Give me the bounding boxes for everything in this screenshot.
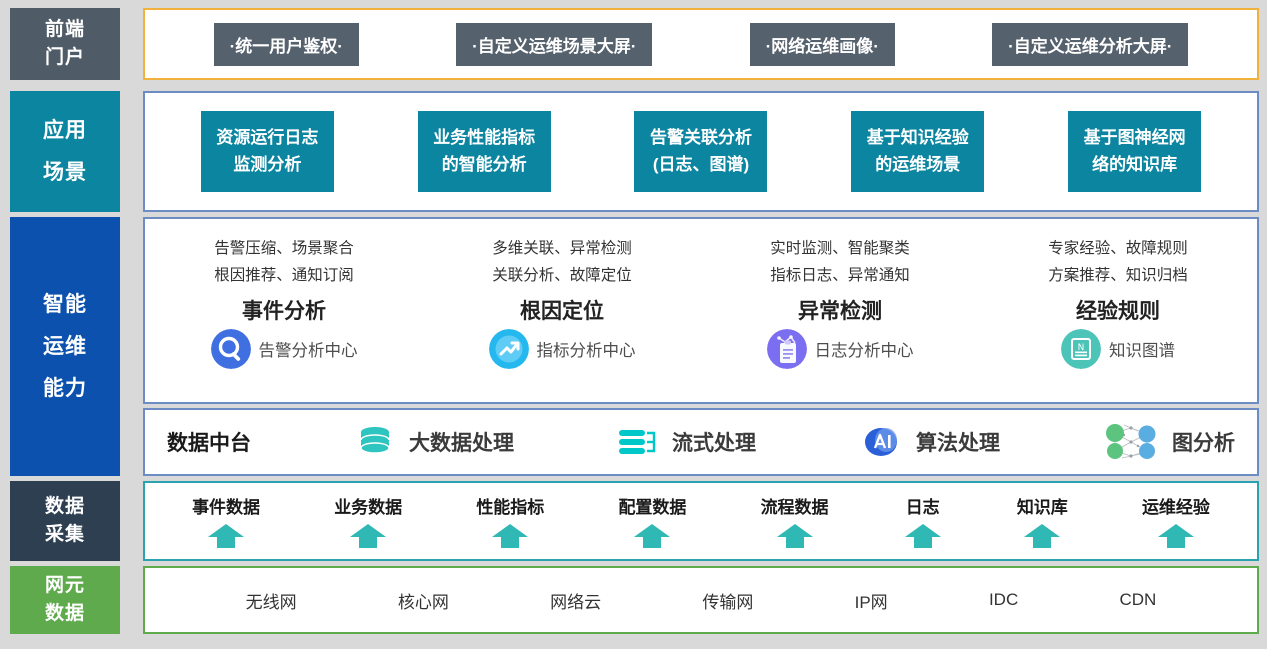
arrow-up-icon: [490, 523, 530, 549]
collect-item-label: 配置数据: [618, 493, 686, 518]
platform-item-label: 流式处理: [672, 427, 756, 457]
capability-keyword: 指标日志、异常通知: [770, 263, 910, 290]
application-scenarios-body: 资源运行日志 监测分析 业务性能指标 的智能分析 告警关联分析 (日志、图谱) …: [143, 91, 1259, 212]
app-card-line2: 络的知识库: [1082, 152, 1187, 178]
platform-item-label: 算法处理: [916, 427, 1000, 457]
capability-keyword: 关联分析、故障定位: [492, 263, 632, 290]
row-label-line: 采集: [45, 521, 85, 549]
capability-product[interactable]: 告警分析中心: [211, 329, 358, 369]
collect-item[interactable]: 知识库: [1017, 493, 1068, 549]
capability-column-experience-rules: 专家经验、故障规则 方案推荐、知识归档 经验规则 N 知识图谱: [979, 219, 1257, 402]
portal-chip[interactable]: ·网络运维画像·: [750, 23, 895, 66]
app-scenario-card[interactable]: 告警关联分析 (日志、图谱): [634, 111, 767, 192]
ai-icon: [858, 425, 904, 459]
collect-item[interactable]: 事件数据: [192, 493, 260, 549]
network-element-item[interactable]: 传输网: [702, 588, 753, 613]
database-icon: [353, 425, 397, 459]
row-label-network-element-data: 网元 数据: [10, 566, 120, 634]
portal-chip[interactable]: ·自定义运维场景大屏·: [456, 23, 652, 66]
network-element-item[interactable]: 核心网: [398, 588, 449, 613]
data-middle-platform-box: 数据中台 大数据处理: [143, 408, 1259, 476]
network-element-item[interactable]: 网络云: [550, 588, 601, 613]
collect-item[interactable]: 性能指标: [476, 493, 544, 549]
collect-item[interactable]: 日志: [903, 493, 943, 549]
capability-product[interactable]: 日志分析中心: [767, 329, 914, 369]
capability-product-label: 知识图谱: [1109, 337, 1175, 361]
front-portal-body: ·统一用户鉴权· ·自定义运维场景大屏· ·网络运维画像· ·自定义运维分析大屏…: [143, 8, 1259, 80]
capability-keyword: 根因推荐、通知订阅: [214, 263, 354, 290]
arrow-up-icon: [903, 523, 943, 549]
capability-title: 经验规则: [1076, 295, 1160, 325]
capability-product-label: 日志分析中心: [815, 337, 914, 361]
app-card-line1: 告警关联分析: [648, 125, 753, 151]
collect-item[interactable]: 配置数据: [618, 493, 686, 549]
arrow-up-icon: [632, 523, 672, 549]
capability-keyword: 实时监测、智能聚类: [770, 236, 910, 263]
arrow-up-icon: [1156, 523, 1196, 549]
capability-box: 告警压缩、场景聚合 根因推荐、通知订阅 事件分析 告警分析中心: [143, 217, 1259, 404]
capability-column-event-analysis: 告警压缩、场景聚合 根因推荐、通知订阅 事件分析 告警分析中心: [145, 219, 423, 402]
capability-title: 异常检测: [798, 295, 882, 325]
row-label-line: 门户: [45, 44, 85, 72]
capability-keyword: 专家经验、故障规则: [1048, 236, 1188, 263]
app-scenario-card[interactable]: 业务性能指标 的智能分析: [418, 111, 551, 192]
row-label-aiops-capability: 智能 运维 能力: [10, 217, 120, 476]
row-label-front-portal: 前端 门户: [10, 8, 120, 80]
arrow-up-icon: [1022, 523, 1062, 549]
app-scenario-card[interactable]: 资源运行日志 监测分析: [201, 111, 334, 192]
collect-item-label: 日志: [906, 493, 940, 518]
app-card-line2: (日志、图谱): [648, 152, 753, 178]
collect-item-label: 运维经验: [1142, 493, 1210, 518]
app-card-line1: 基于图神经网: [1082, 125, 1187, 151]
row-label-data-collection: 数据 采集: [10, 481, 120, 561]
portal-chip[interactable]: ·统一用户鉴权·: [214, 23, 359, 66]
app-scenario-card[interactable]: 基于图神经网 络的知识库: [1068, 111, 1201, 192]
data-middle-platform-title: 数据中台: [167, 427, 251, 457]
aiops-capability-body: 告警压缩、场景聚合 根因推荐、通知订阅 事件分析 告警分析中心: [143, 217, 1259, 476]
platform-item-label: 图分析: [1172, 427, 1235, 457]
row-data-collection: 数据 采集 事件数据 业务数据 性能指标 配置数据 流程数据: [10, 481, 1259, 561]
platform-item-stream[interactable]: 流式处理: [616, 425, 756, 459]
row-label-line: 应用: [43, 110, 87, 152]
arrow-up-icon: [348, 523, 388, 549]
data-collection-body: 事件数据 业务数据 性能指标 配置数据 流程数据 日志: [143, 481, 1259, 561]
portal-chip[interactable]: ·自定义运维分析大屏·: [992, 23, 1188, 66]
row-label-line: 数据: [45, 493, 85, 521]
collect-item-label: 事件数据: [192, 493, 260, 518]
row-label-line: 能力: [43, 368, 87, 410]
capability-keyword: 告警压缩、场景聚合: [214, 236, 354, 263]
row-label-line: 智能: [43, 284, 87, 326]
row-label-line: 场景: [43, 152, 87, 194]
row-label-line: 运维: [43, 326, 87, 368]
row-application-scenarios: 应用 场景 资源运行日志 监测分析 业务性能指标 的智能分析 告警关联分析 (日…: [10, 91, 1259, 212]
app-card-line1: 基于知识经验: [865, 125, 970, 151]
collect-item[interactable]: 业务数据: [334, 493, 402, 549]
graph-network-icon: [1102, 422, 1160, 462]
arrow-up-icon: [775, 523, 815, 549]
capability-product-label: 告警分析中心: [259, 337, 358, 361]
capability-product[interactable]: 指标分析中心: [489, 329, 636, 369]
row-label-line: 网元: [45, 572, 85, 600]
collect-item[interactable]: 运维经验: [1142, 493, 1210, 549]
network-element-item[interactable]: CDN: [1119, 590, 1156, 610]
platform-item-graph[interactable]: 图分析: [1102, 422, 1235, 462]
row-label-application-scenarios: 应用 场景: [10, 91, 120, 212]
stream-icon: [616, 425, 660, 459]
knowledge-graph-icon: N: [1061, 329, 1101, 369]
architecture-diagram: 前端 门户 ·统一用户鉴权· ·自定义运维场景大屏· ·网络运维画像· ·自定义…: [0, 0, 1267, 649]
platform-item-label: 大数据处理: [409, 427, 514, 457]
metric-analysis-icon: [489, 329, 529, 369]
app-scenario-card[interactable]: 基于知识经验 的运维场景: [851, 111, 984, 192]
network-element-item[interactable]: IP网: [855, 588, 888, 613]
capability-product-label: 指标分析中心: [537, 337, 636, 361]
capability-title: 根因定位: [520, 295, 604, 325]
collect-item-label: 业务数据: [334, 493, 402, 518]
app-card-line2: 的智能分析: [432, 152, 537, 178]
log-analysis-icon: [767, 329, 807, 369]
platform-item-bigdata[interactable]: 大数据处理: [353, 425, 514, 459]
collect-item-label: 性能指标: [476, 493, 544, 518]
collect-item-label: 流程数据: [761, 493, 829, 518]
row-network-element-data: 网元 数据 无线网 核心网 网络云 传输网 IP网 IDC CDN: [10, 566, 1259, 634]
collect-item-label: 知识库: [1017, 493, 1068, 518]
capability-column-anomaly-detection: 实时监测、智能聚类 指标日志、异常通知 异常检测: [701, 219, 979, 402]
app-card-line2: 监测分析: [215, 152, 320, 178]
arrow-up-icon: [206, 523, 246, 549]
app-card-line1: 业务性能指标: [432, 125, 537, 151]
network-element-item[interactable]: 无线网: [246, 588, 297, 613]
row-label-line: 前端: [45, 16, 85, 44]
alert-analysis-icon: [211, 329, 251, 369]
capability-column-root-cause: 多维关联、异常检测 关联分析、故障定位 根因定位 指标分析中心: [423, 219, 701, 402]
app-card-line2: 的运维场景: [865, 152, 970, 178]
row-aiops-capability: 智能 运维 能力 告警压缩、场景聚合 根因推荐、通知订阅 事件分析: [10, 217, 1259, 476]
capability-title: 事件分析: [242, 295, 326, 325]
collect-item[interactable]: 流程数据: [761, 493, 829, 549]
network-element-item[interactable]: IDC: [989, 590, 1018, 610]
network-element-data-body: 无线网 核心网 网络云 传输网 IP网 IDC CDN: [143, 566, 1259, 634]
capability-keyword: 方案推荐、知识归档: [1048, 263, 1188, 290]
row-front-portal: 前端 门户 ·统一用户鉴权· ·自定义运维场景大屏· ·网络运维画像· ·自定义…: [10, 8, 1259, 80]
capability-product[interactable]: N 知识图谱: [1061, 329, 1175, 369]
app-card-line1: 资源运行日志: [215, 125, 320, 151]
platform-item-algorithm[interactable]: 算法处理: [858, 425, 1000, 459]
row-label-line: 数据: [45, 600, 85, 628]
capability-keyword: 多维关联、异常检测: [492, 236, 632, 263]
